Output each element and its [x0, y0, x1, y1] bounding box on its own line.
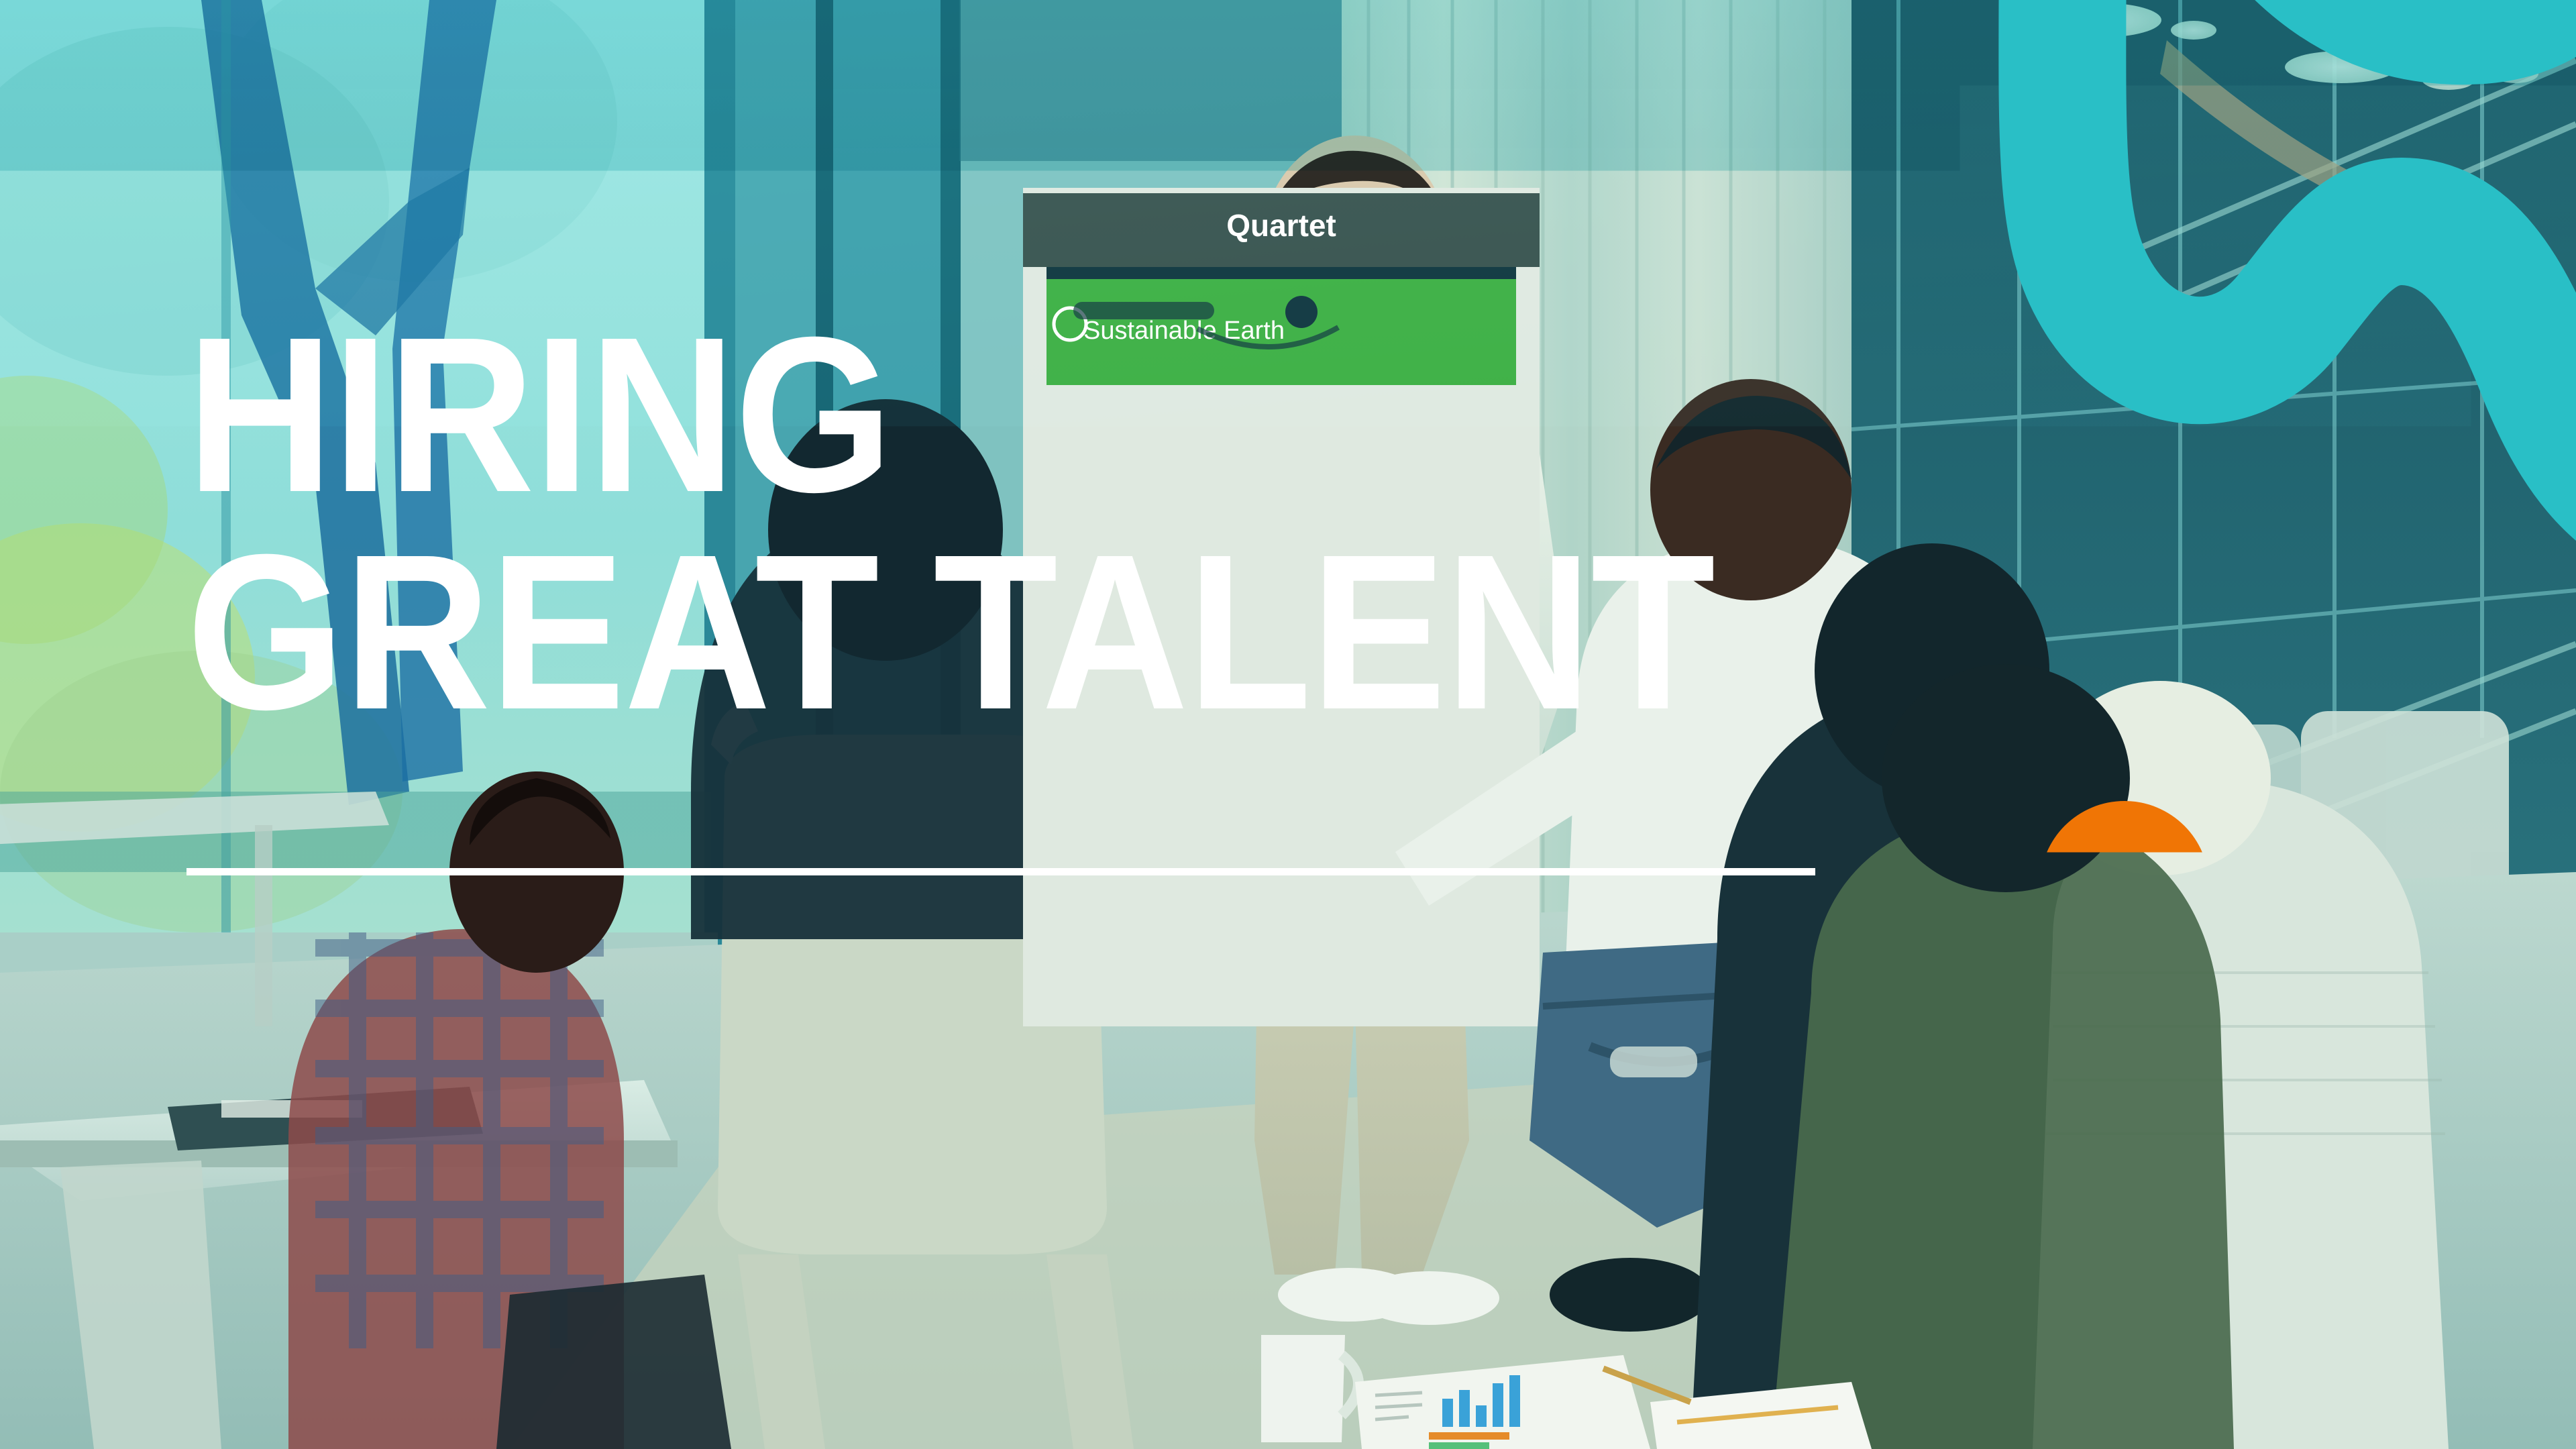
headline-line-1: HIRING	[186, 319, 892, 510]
divider-rule	[186, 868, 1815, 875]
hiring-banner-poster: Quartet Sustainable Earth	[0, 0, 2576, 1449]
subtitle-text: WELCOME TO OUR NEW HIRE	[236, 1000, 982, 1057]
headline-line-2: GREAT TALENT	[186, 537, 1714, 727]
poster-text-content: HIRING GREAT TALENT WELCOME TO OUR NEW H…	[0, 0, 2576, 1449]
